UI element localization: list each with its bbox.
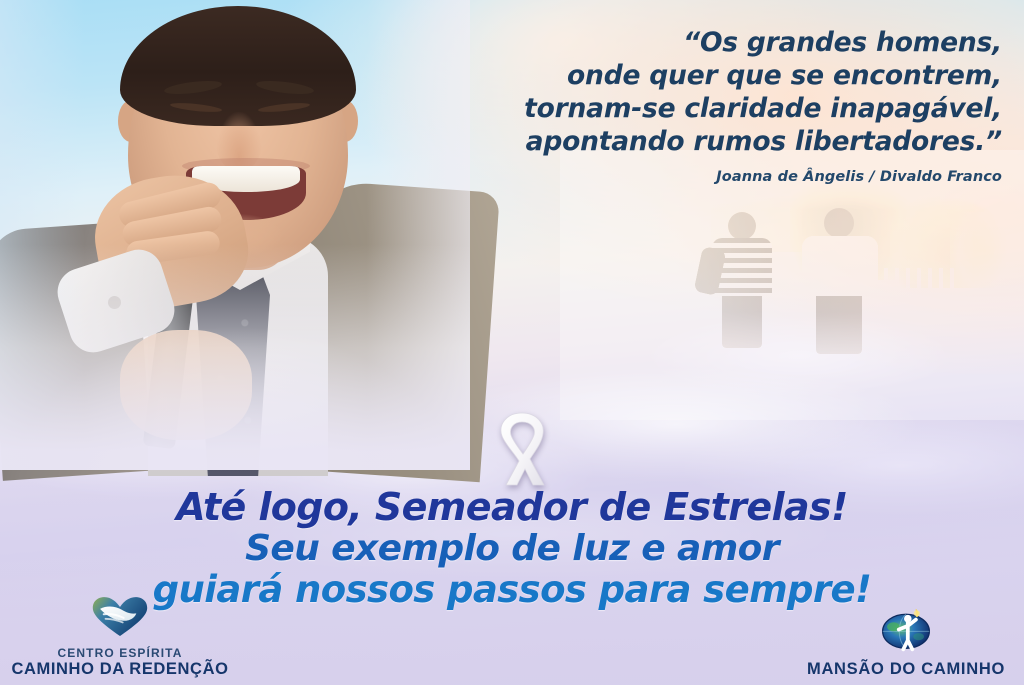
globe-figure-icon [879,607,933,657]
quote-attribution: Joanna de Ângelis / Divaldo Franco [442,169,1002,185]
logo-left-line-1: CENTRO ESPÍRITA [58,646,183,660]
headline-block: Até logo, Semeador de Estrelas! Seu exem… [0,486,1024,611]
logo-right-line-1: MANSÃO DO CAMINHO [807,660,1005,679]
logo-centro-espirita: CENTRO ESPÍRITA CAMINHO DA REDENÇÃO [22,596,218,679]
logo-left-line-2: CAMINHO DA REDENÇÃO [11,660,228,679]
quote-block: “Os grandes homens, onde quer que se enc… [442,26,1002,185]
divaldo-franco-portrait [0,0,470,470]
portrait-haze-overlay [0,0,470,470]
photo-fade-overlay [560,150,1024,420]
heart-hands-icon [91,596,149,643]
two-men-walking-photo [560,150,1024,420]
quote-line-2: onde quer que se encontrem, [442,59,1002,92]
logo-mansao-do-caminho: MANSÃO DO CAMINHO [798,607,1014,679]
headline-line-2: Seu exemplo de luz e amor [0,528,1024,569]
white-ribbon-icon [486,409,558,491]
headline-line-1: Até logo, Semeador de Estrelas! [0,486,1024,528]
quote-line-1: “Os grandes homens, [442,26,1002,59]
memorial-poster: “Os grandes homens, onde quer que se enc… [0,0,1024,685]
quote-line-4: apontando rumos libertadores.” [442,125,1002,158]
quote-line-3: tornam-se claridade inapagável, [442,92,1002,125]
